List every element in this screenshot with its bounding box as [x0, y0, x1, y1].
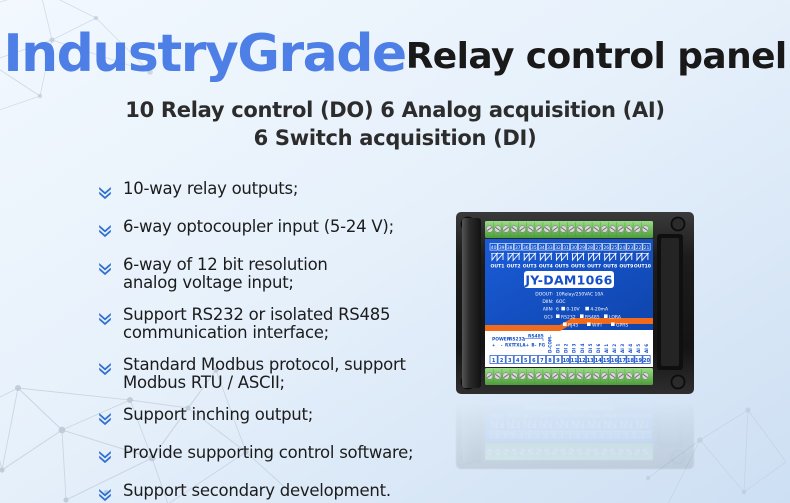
svg-text:AI 6: AI 6 [644, 344, 649, 353]
svg-text:19: 19 [635, 358, 642, 364]
svg-text:20: 20 [643, 358, 650, 364]
subtitle-line-2: 6 Switch acquisition (DI) [0, 125, 790, 153]
svg-text:AI 5: AI 5 [636, 344, 641, 353]
feature-item-line: Support inching output; [123, 406, 313, 424]
feature-item-label: Support inching output; [123, 406, 313, 424]
banner-header: IndustryGradeRelay control panel 10 Rela… [0, 28, 790, 153]
feature-item-label: 10-way relay outputs; [123, 180, 298, 198]
feature-item: 6-way optocoupler input (5-24 V); [97, 218, 457, 243]
subtitle-line-1: 10 Relay control (DO) 6 Analog acquisiti… [0, 97, 790, 125]
feature-item-label: Support RS232 or isolated RS485communica… [123, 306, 390, 343]
feature-item-label: Standard Modbus protocol, supportModbus … [123, 356, 406, 393]
feature-item-line: Support secondary development. [123, 482, 391, 500]
svg-text:DI 1: DI 1 [556, 344, 561, 353]
svg-text:22: 22 [636, 245, 642, 251]
svg-text:DIIN∶: DIIN∶ [542, 299, 553, 305]
feature-item: 10-way relay outputs; [97, 180, 457, 205]
svg-text:14: 14 [595, 358, 602, 364]
svg-text:11: 11 [571, 358, 578, 364]
feature-item-line: Modbus RTU / ASCII; [123, 374, 406, 392]
feature-item-line: Provide supporting control software; [123, 444, 413, 462]
feature-item: Provide supporting control software; [97, 444, 457, 469]
svg-text:7: 7 [540, 358, 544, 364]
svg-text:OUT7: OUT7 [587, 264, 601, 270]
svg-text:30: 30 [571, 245, 577, 251]
feature-item-line: 10-way relay outputs; [123, 180, 298, 198]
svg-text:36: 36 [523, 245, 529, 251]
title-rest: Relay control panel [406, 36, 787, 77]
svg-text:31: 31 [563, 245, 569, 251]
svg-text:+: + [492, 343, 496, 348]
svg-text:10: 10 [563, 358, 570, 364]
page-title: IndustryGradeRelay control panel [0, 28, 790, 80]
svg-text:DI 3: DI 3 [572, 344, 577, 353]
svg-text:4-20mA: 4-20mA [590, 307, 609, 313]
svg-text:24: 24 [620, 245, 626, 251]
feature-item-line: 6-way optocoupler input (5-24 V); [123, 218, 394, 236]
feature-item: Standard Modbus protocol, supportModbus … [97, 356, 457, 393]
svg-text:RS232: RS232 [561, 314, 576, 320]
double-chevron-down-icon [97, 180, 115, 205]
svg-text:FG: FG [539, 343, 546, 348]
svg-text:40: 40 [491, 245, 497, 251]
svg-text:OUT10: OUT10 [634, 264, 651, 270]
svg-text:RS485: RS485 [585, 314, 600, 320]
title-brand: IndustryGrade [3, 24, 405, 84]
svg-text:GPRS: GPRS [616, 322, 628, 328]
feature-item-line: Support RS232 or isolated RS485 [123, 306, 390, 324]
svg-text:AI 4: AI 4 [628, 344, 633, 353]
svg-text:6OC: 6OC [556, 299, 566, 305]
svg-text:5: 5 [524, 358, 528, 364]
svg-text:AI 1: AI 1 [604, 344, 609, 353]
svg-text:1: 1 [492, 358, 496, 364]
svg-text:10Relay/250VAC 10A: 10Relay/250VAC 10A [556, 292, 604, 298]
svg-text:32: 32 [555, 245, 561, 251]
svg-text:34: 34 [539, 245, 545, 251]
svg-text:6: 6 [556, 307, 559, 313]
svg-text:15: 15 [603, 358, 610, 364]
svg-text:DI 5: DI 5 [588, 344, 593, 353]
svg-text:OUT4: OUT4 [539, 264, 553, 270]
svg-text:AI 2: AI 2 [612, 344, 617, 353]
product-device-image: 4039383736353433323130292827262524232221… [452, 208, 702, 398]
feature-item-label: 6-way of 12 bit resolutionanalog voltage… [123, 256, 328, 293]
feature-item: Support secondary development. [97, 482, 457, 503]
double-chevron-down-icon [97, 356, 115, 381]
svg-text:33: 33 [547, 245, 553, 251]
feature-item: Support inching output; [97, 406, 457, 431]
svg-text:17: 17 [619, 358, 626, 364]
svg-text:B-: B- [531, 343, 536, 348]
svg-text:4: 4 [516, 358, 520, 364]
svg-text:2: 2 [500, 358, 504, 364]
double-chevron-down-icon [97, 406, 115, 431]
svg-text:21: 21 [644, 245, 650, 251]
svg-text:OUT2: OUT2 [507, 264, 521, 270]
double-chevron-down-icon [97, 218, 115, 243]
double-chevron-down-icon [97, 306, 115, 331]
svg-text:WIFI: WIFI [592, 322, 602, 328]
svg-text:OUT3: OUT3 [523, 264, 537, 270]
svg-text:29: 29 [579, 245, 585, 251]
svg-text:RJ45: RJ45 [568, 322, 578, 328]
svg-text:35: 35 [531, 245, 537, 251]
svg-text:28: 28 [587, 245, 593, 251]
svg-text:39: 39 [499, 245, 505, 251]
svg-text:0-10V: 0-10V [566, 307, 580, 313]
feature-item-label: Support secondary development. [123, 482, 391, 500]
feature-item-line: 6-way of 12 bit resolution [123, 256, 328, 274]
svg-text:23: 23 [628, 245, 634, 251]
svg-text:LORA: LORA [609, 314, 622, 320]
svg-text:DI 4: DI 4 [580, 344, 585, 353]
svg-text:GCI∶: GCI∶ [544, 314, 553, 320]
feature-item-line: communication interface; [123, 324, 390, 342]
svg-text:OUT8: OUT8 [603, 264, 617, 270]
svg-text:38: 38 [507, 245, 513, 251]
svg-text:-: - [501, 343, 503, 348]
feature-item: 6-way of 12 bit resolutionanalog voltage… [97, 256, 457, 293]
feature-item-label: 6-way optocoupler input (5-24 V); [123, 218, 394, 236]
svg-text:DI 2: DI 2 [564, 344, 569, 353]
svg-text:25: 25 [612, 245, 618, 251]
svg-text:18: 18 [627, 358, 634, 364]
feature-item-label: Provide supporting control software; [123, 444, 413, 462]
svg-text:OUT1: OUT1 [491, 264, 505, 270]
svg-text:27: 27 [595, 245, 601, 251]
svg-text:26: 26 [604, 245, 610, 251]
svg-text:DOOUT∶: DOOUT∶ [535, 292, 553, 298]
svg-text:3: 3 [508, 358, 512, 364]
svg-text:TXL: TXL [513, 343, 522, 348]
svg-text:16: 16 [611, 358, 618, 364]
svg-text:DI 6: DI 6 [596, 344, 601, 353]
svg-text:OUT5: OUT5 [555, 264, 569, 270]
svg-text:OUT6: OUT6 [571, 264, 585, 270]
double-chevron-down-icon [97, 444, 115, 469]
double-chevron-down-icon [97, 256, 115, 281]
svg-text:6: 6 [532, 358, 536, 364]
svg-text:JY-DAM1066: JY-DAM1066 [524, 273, 612, 288]
product-device-reflection: 4039383736353433323130292827262524232221… [452, 398, 702, 473]
svg-text:9: 9 [556, 358, 560, 364]
page-subtitle: 10 Relay control (DO) 6 Analog acquisiti… [0, 97, 790, 153]
svg-text:37: 37 [515, 245, 521, 251]
double-chevron-down-icon [97, 482, 115, 503]
svg-text:A+: A+ [522, 343, 529, 348]
svg-text:12: 12 [579, 358, 586, 364]
svg-text:13: 13 [587, 358, 594, 364]
feature-item-line: Standard Modbus protocol, support [123, 356, 406, 374]
feature-item-line: analog voltage input; [123, 274, 328, 292]
feature-list: 10-way relay outputs; 6-way optocoupler … [97, 180, 457, 503]
svg-text:AI 3: AI 3 [620, 344, 625, 353]
svg-text:AIIN∶: AIIN∶ [543, 307, 553, 313]
feature-item: Support RS232 or isolated RS485communica… [97, 306, 457, 343]
svg-text:8: 8 [548, 358, 552, 364]
svg-text:OUT9: OUT9 [619, 264, 633, 270]
svg-text:D-COM-: D-COM- [548, 335, 553, 353]
